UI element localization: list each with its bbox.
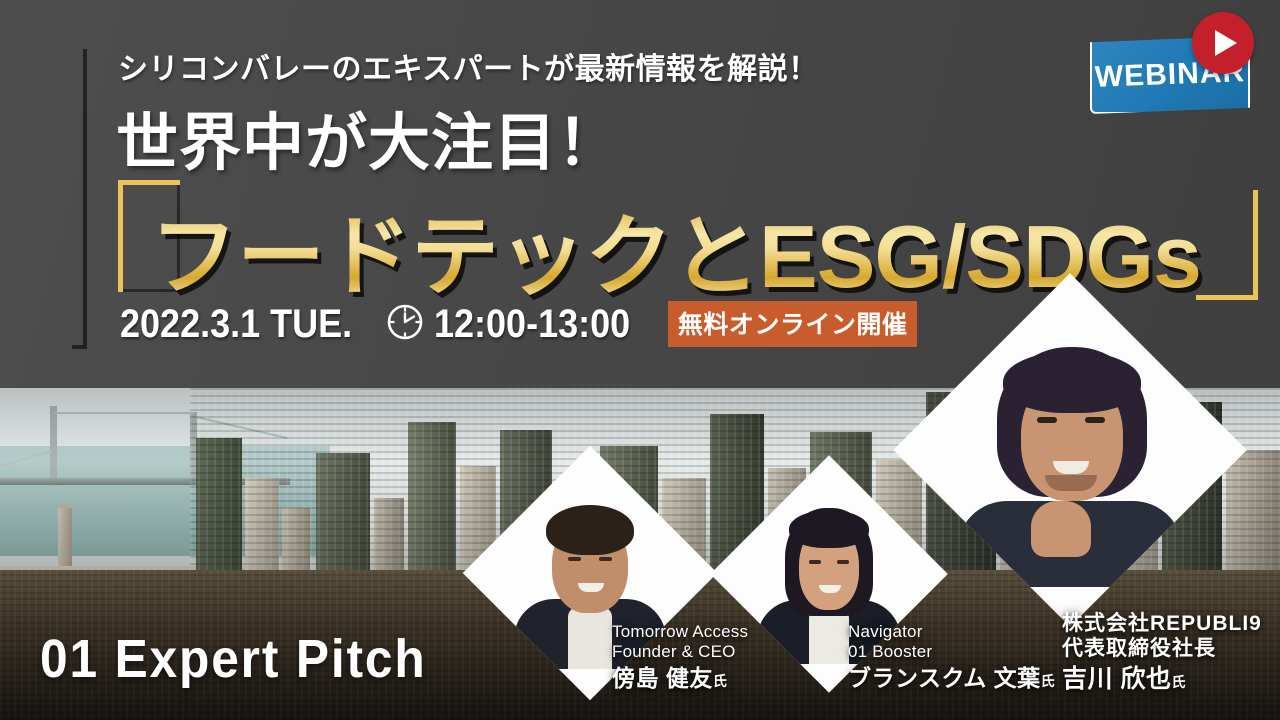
event-time: 12:00-13:00 [434,302,630,347]
speaker-company-3: 株式会社REPUBLI9 [1062,612,1262,637]
speaker-company-1: Tomorrow Access [612,622,748,642]
gold-accent-bar [68,45,83,345]
section-label: 01 Expert Pitch [40,628,427,690]
speaker-role-1: Founder & CEO [612,642,748,662]
clock-icon [384,301,426,348]
play-icon [1192,12,1254,74]
webinar-banner: シリコンバレーのエキスパートが最新情報を解説！ 世界中が大注目！ フードテックと… [0,0,1280,720]
subtitle-text: シリコンバレーのエキスパートが最新情報を解説！ [118,44,819,88]
speaker-honorific-2: 氏 [1041,673,1056,689]
main-title-text: フードテックとESG/SDGs [150,186,1201,313]
speaker-name-2: ブランスクム 文葉 [848,665,1041,691]
speaker-name-3: 吉川 欣也 [1062,665,1171,693]
speaker-name-1: 傍島 健友 [612,665,713,691]
play-triangle [1215,30,1237,56]
speaker-company-2: Navigator [848,622,1055,642]
speaker-honorific-1: 氏 [713,673,728,689]
speaker-caption-2: Navigator 01 Booster ブランスクム 文葉氏 [848,622,1055,692]
event-datetime-row: 2022.3.1 TUE. 12:00-13:00 無料オンライン開催 [120,300,917,348]
event-date: 2022.3.1 TUE. [120,302,352,347]
speaker-honorific-3: 氏 [1171,674,1186,690]
speaker-caption-1: Tomorrow Access Founder & CEO 傍島 健友氏 [612,622,748,692]
bracket-right [1196,190,1258,300]
speaker-caption-3: 株式会社REPUBLI9 代表取締役社長 吉川 欣也氏 [1062,612,1262,694]
headline-text: 世界中が大注目！ [116,92,620,182]
speaker-role-3: 代表取締役社長 [1062,637,1262,662]
free-online-badge: 無料オンライン開催 [668,301,918,347]
speaker-role-2: 01 Booster [848,642,1055,662]
